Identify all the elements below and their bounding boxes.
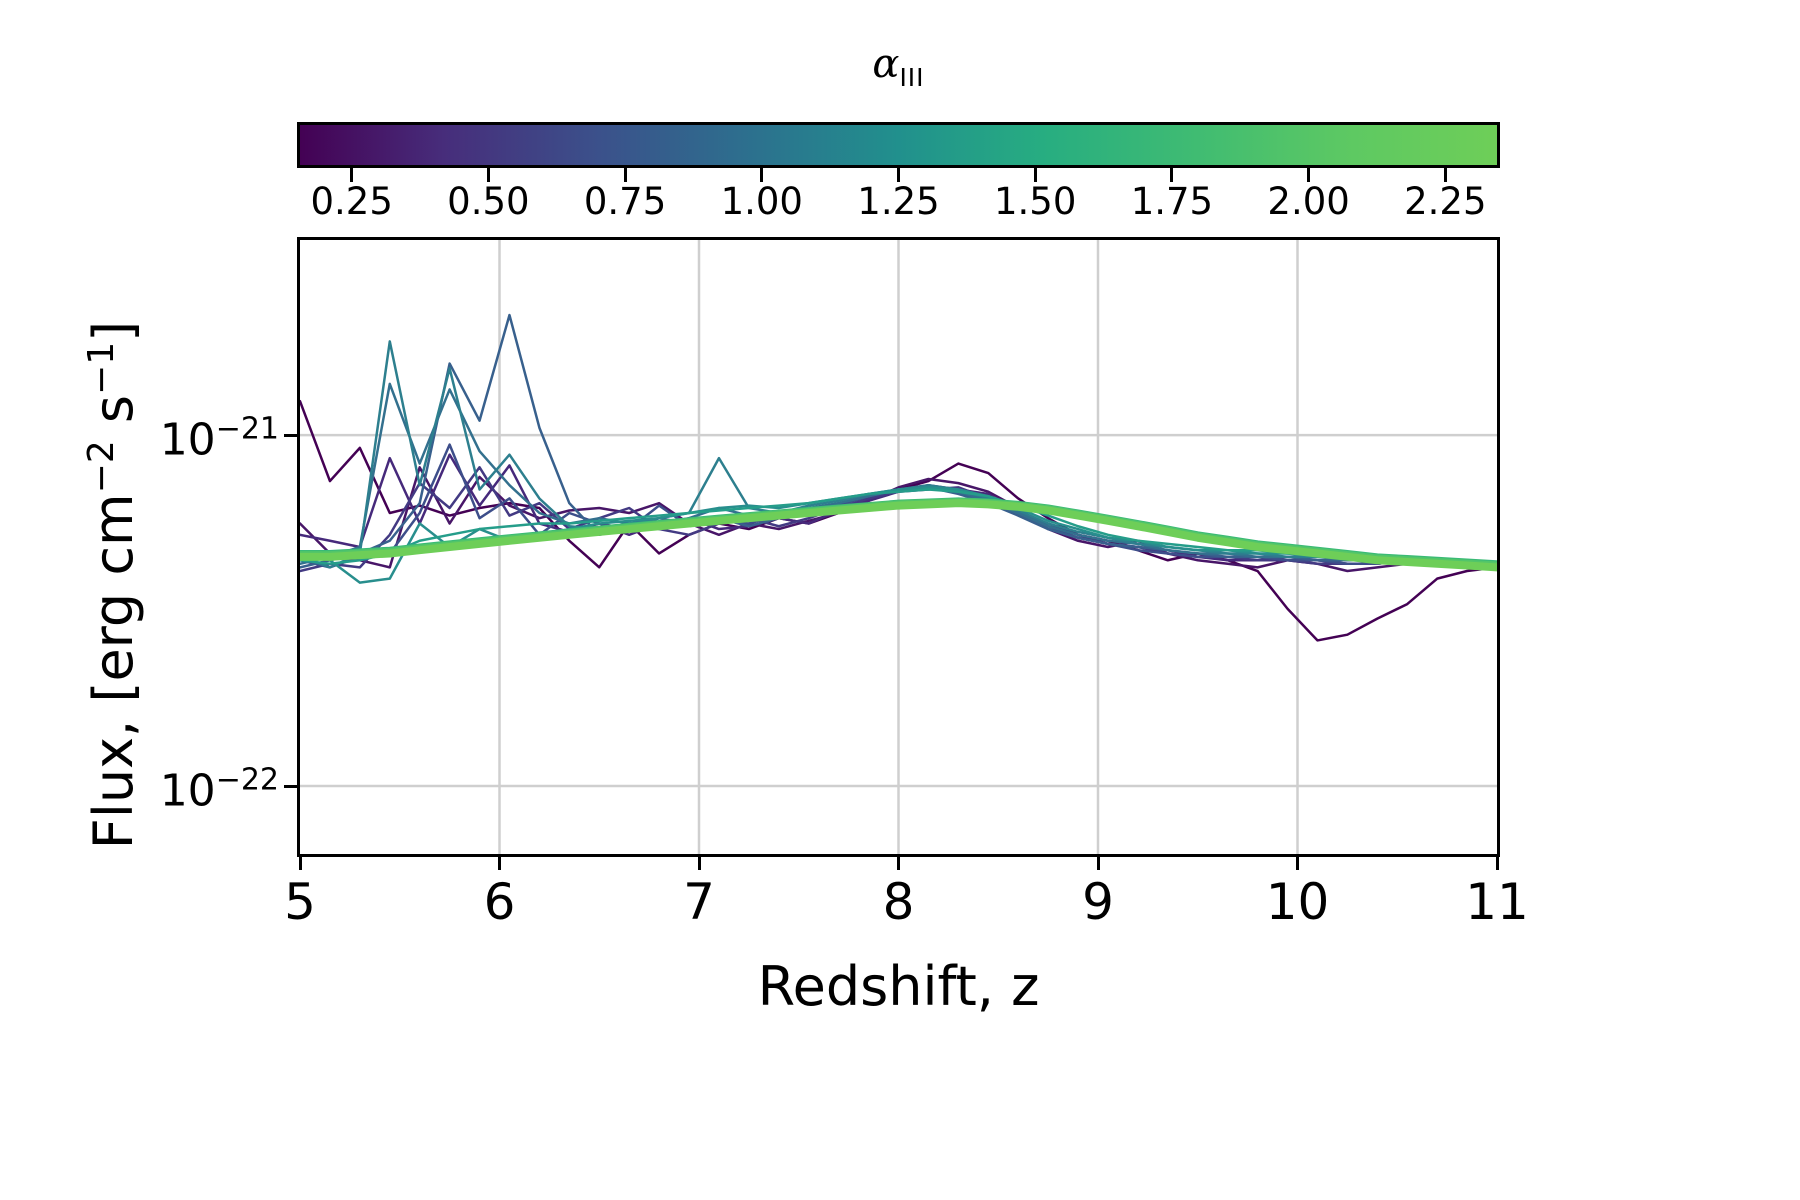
- colorbar[interactable]: [297, 122, 1500, 168]
- colorbar-ticklabels: 0.250.500.751.001.251.501.752.002.25: [297, 180, 1500, 226]
- colorbar-ticklabel: 0.50: [447, 180, 529, 224]
- x-tick: [897, 857, 900, 870]
- colorbar-ticklabel: 2.00: [1267, 180, 1349, 224]
- x-tick: [498, 857, 501, 870]
- colorbar-title-alpha: α: [872, 41, 899, 87]
- data-curve: [300, 341, 1497, 567]
- colorbar-ticklabel: 0.25: [310, 180, 392, 224]
- data-curve: [300, 401, 1497, 640]
- y-ticklabel-mantissa: 10: [160, 414, 216, 465]
- colorbar-ticklabel: 1.75: [1131, 180, 1213, 224]
- x-ticklabel: 8: [883, 872, 915, 932]
- y-ticklabel-mantissa: 10: [160, 765, 216, 816]
- colorbar-ticklabel: 1.25: [857, 180, 939, 224]
- x-tick: [698, 857, 701, 870]
- colorbar-ticklabel: 1.00: [721, 180, 803, 224]
- colorbar-ticklabel: 0.75: [584, 180, 666, 224]
- y-tick: [284, 785, 297, 788]
- figure-canvas: αIII 0.250.500.751.001.251.501.752.002.2…: [0, 0, 1800, 1200]
- x-axis-label: Redshift, z: [297, 955, 1500, 1019]
- x-ticklabel: 9: [1082, 872, 1114, 932]
- y-ticklabel-exponent: −21: [216, 412, 279, 447]
- x-tick: [299, 857, 302, 870]
- x-ticklabel: 5: [284, 872, 316, 932]
- plot-inner: [300, 240, 1497, 854]
- x-ticklabel: 6: [484, 872, 516, 932]
- y-axis-label-exp1: −2: [81, 440, 122, 493]
- colorbar-ticklabel: 1.50: [994, 180, 1076, 224]
- colorbar-ticklabel: 2.25: [1404, 180, 1486, 224]
- x-ticklabel: 7: [683, 872, 715, 932]
- y-axis-label-exp2: −1: [81, 342, 122, 395]
- x-ticklabel: 11: [1465, 872, 1529, 932]
- y-axis-label-mid: s: [82, 395, 145, 440]
- y-ticklabel: 10−22: [160, 755, 279, 818]
- y-axis-label: Flux, [erg cm−2 s−1]: [70, 235, 146, 935]
- data-curve: [300, 384, 1497, 564]
- plot-axes: [297, 237, 1500, 857]
- colorbar-title: αIII: [297, 40, 1500, 102]
- data-lines-layer: [300, 240, 1497, 854]
- y-axis-label-prefix: Flux, [erg cm: [82, 493, 145, 849]
- y-ticklabel-exponent: −22: [216, 763, 279, 798]
- y-axis-label-suffix: ]: [82, 321, 145, 342]
- x-axis-label-text: Redshift, z: [758, 955, 1040, 1018]
- y-ticklabel: 10−21: [160, 404, 279, 467]
- x-tick: [1496, 857, 1499, 870]
- y-tick: [284, 434, 297, 437]
- colorbar-title-subscript: III: [899, 63, 924, 92]
- x-tick: [1097, 857, 1100, 870]
- colorbar-gradient: [297, 122, 1500, 168]
- x-tick: [1296, 857, 1299, 870]
- x-ticklabel: 10: [1266, 872, 1330, 932]
